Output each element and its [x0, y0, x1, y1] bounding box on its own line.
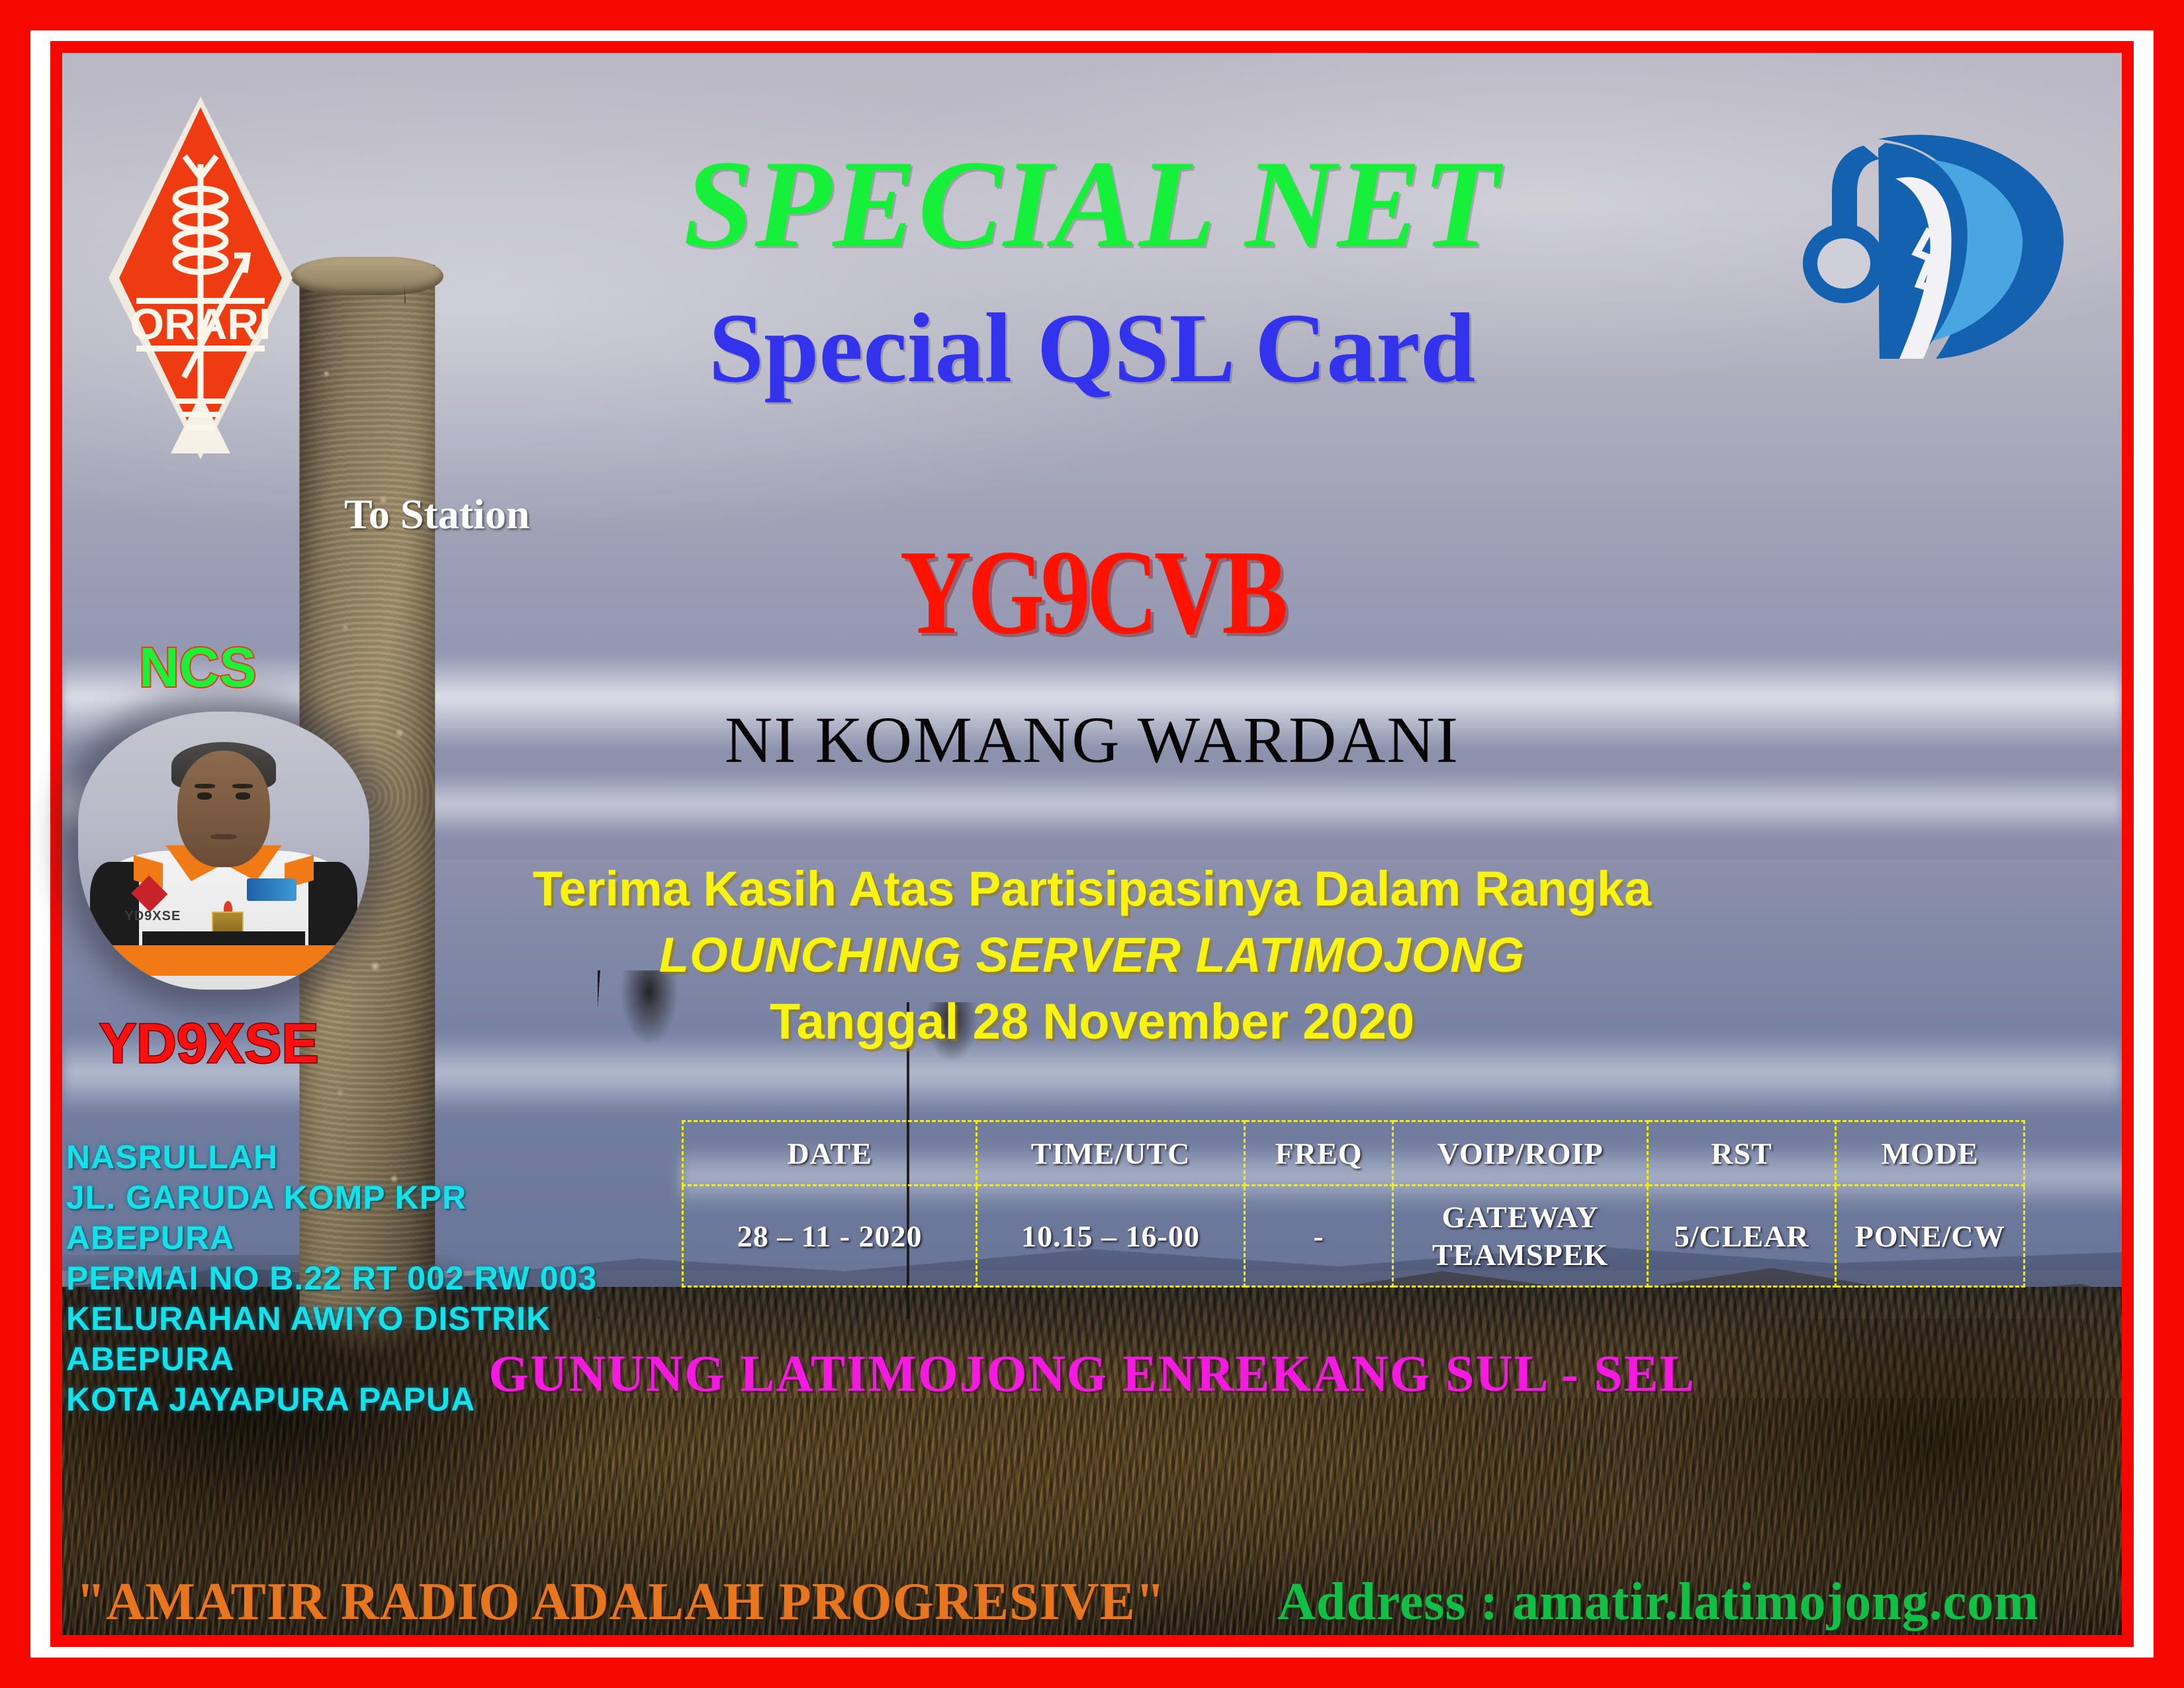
thanks-line-1: Terima Kasih Atas Partisipasinya Dalam R… [0, 861, 2184, 917]
address-line: KELURAHAN AWIYO DISTRIK [66, 1299, 597, 1339]
table-row: 28 – 11 - 2020 10.15 – 16-00 - GATEWAY T… [683, 1186, 2025, 1287]
table-header-row: DATE TIME/UTC FREQ VOIP/ROIP RST MODE [683, 1121, 2025, 1186]
cell-freq: - [1244, 1186, 1393, 1287]
cell-date: 28 – 11 - 2020 [683, 1186, 977, 1287]
footer-motto: "AMATIR RADIO ADALAH PROGRESIVE" [76, 1572, 1165, 1632]
cell-voip-roip-line1: GATEWAY [1394, 1198, 1645, 1237]
ncs-label: NCS [139, 635, 256, 700]
cell-mode: PONE/CW [1836, 1186, 2025, 1287]
column-header-mode: MODE [1836, 1121, 2025, 1186]
location-line: GUNUNG LATIMOJONG ENREKANG SUL - SEL [0, 1344, 2184, 1403]
ncs-callsign: YD9XSE [99, 1011, 319, 1076]
operator-name: NI KOMANG WARDANI [0, 702, 2184, 778]
cell-rst: 5/CLEAR [1647, 1186, 1836, 1287]
qso-details-table: DATE TIME/UTC FREQ VOIP/ROIP RST MODE 28… [682, 1120, 2025, 1288]
thanks-line-3-date: Tanggal 28 November 2020 [0, 993, 2184, 1051]
cell-voip-roip-line2: TEAMSPEK [1394, 1236, 1645, 1274]
column-header-voip-roip: VOIP/ROIP [1393, 1121, 1647, 1186]
address-line: ABEPURA [66, 1218, 597, 1258]
address-line: JL. GARUDA KOMP KPR [66, 1178, 597, 1218]
qsl-card: ORARI [0, 0, 2184, 1688]
column-header-date: DATE [683, 1121, 977, 1186]
cell-voip-roip: GATEWAY TEAMSPEK [1393, 1186, 1647, 1287]
column-header-time-utc: TIME/UTC [977, 1121, 1244, 1186]
page-subtitle-special-qsl-card: Special QSL Card [0, 291, 2184, 405]
thanks-line-2-event: LOUNCHING SERVER LATIMOJONG [0, 927, 2184, 983]
address-line: PERMAI NO B.22 RT 002 RW 003 [66, 1258, 597, 1299]
page-title-special-net: SPECIAL NET [0, 132, 2184, 277]
cell-time-utc: 10.15 – 16-00 [977, 1186, 1244, 1287]
address-line: NASRULLAH [66, 1137, 597, 1178]
station-callsign: YG9CVB [0, 523, 2184, 662]
column-header-freq: FREQ [1244, 1121, 1393, 1186]
footer-website-address: Address : amatir.latimojong.com [1277, 1572, 2039, 1632]
column-header-rst: RST [1647, 1121, 1836, 1186]
